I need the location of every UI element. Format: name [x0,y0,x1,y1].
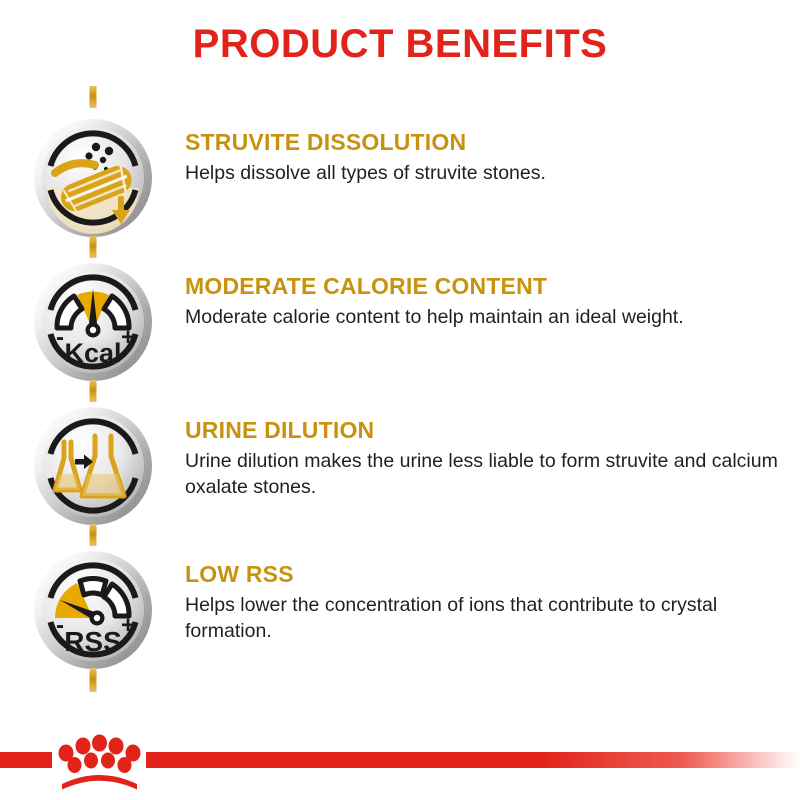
benefit-title: MODERATE CALORIE CONTENT [185,274,800,299]
footer-bar-left [0,752,52,768]
benefit-description: Moderate calorie content to help maintai… [185,305,785,331]
page-title: PRODUCT BENEFITS [0,22,800,67]
benefit-text-column: LOW RSS Helps lower the concentration of… [185,544,800,645]
rss-minus-label: - [56,612,64,639]
benefit-item-urine-dilution: URINE DILUTION Urine dilution makes the … [0,400,800,544]
rss-plus-label: + [120,612,134,639]
footer [0,722,800,800]
benefits-list: STRUVITE DISSOLUTION Helps dissolve all … [0,112,800,688]
benefit-description: Helps dissolve all types of struvite sto… [185,161,785,187]
connector-dash-between-1-2 [89,236,96,258]
connector-dash-between-2-3 [89,380,96,402]
flask-dilution-icon [33,406,153,526]
benefit-description: Urine dilution makes the urine less liab… [185,449,785,500]
footer-bar-right [146,752,800,768]
benefit-icon-column [0,112,185,238]
kcal-label: Kcal [64,338,121,368]
benefit-title: STRUVITE DISSOLUTION [185,130,800,155]
benefit-icon-column: - + Kcal [0,256,185,382]
benefit-icon-column [0,400,185,526]
benefit-title: URINE DILUTION [185,418,800,443]
benefit-text-column: MODERATE CALORIE CONTENT Moderate calori… [185,256,800,331]
benefit-description: Helps lower the concentration of ions th… [185,593,785,644]
connector-dash-tail [89,668,96,692]
benefit-item-moderate-calorie-content: - + Kcal MODERATE CALORIE CONTENT Modera… [0,256,800,400]
benefit-title: LOW RSS [185,562,800,587]
kcal-minus-label: - [56,324,64,351]
struvite-stone-dissolution-icon [33,118,153,238]
benefit-icon-column: - + RSS [0,544,185,670]
royal-canin-crown-logo [52,732,146,790]
connector-dash-top [89,86,96,108]
benefit-text-column: STRUVITE DISSOLUTION Helps dissolve all … [185,112,800,187]
rss-label: RSS [64,626,122,657]
benefit-text-column: URINE DILUTION Urine dilution makes the … [185,400,800,501]
product-benefits-page: PRODUCT BENEFITS [0,0,800,800]
kcal-gauge-icon: - + Kcal [33,262,153,382]
benefit-item-struvite-dissolution: STRUVITE DISSOLUTION Helps dissolve all … [0,112,800,256]
benefit-item-low-rss: - + RSS LOW RSS Helps lower the concentr… [0,544,800,688]
connector-dash-between-3-4 [89,524,96,546]
rss-gauge-icon: - + RSS [33,550,153,670]
kcal-plus-label: + [120,324,134,351]
